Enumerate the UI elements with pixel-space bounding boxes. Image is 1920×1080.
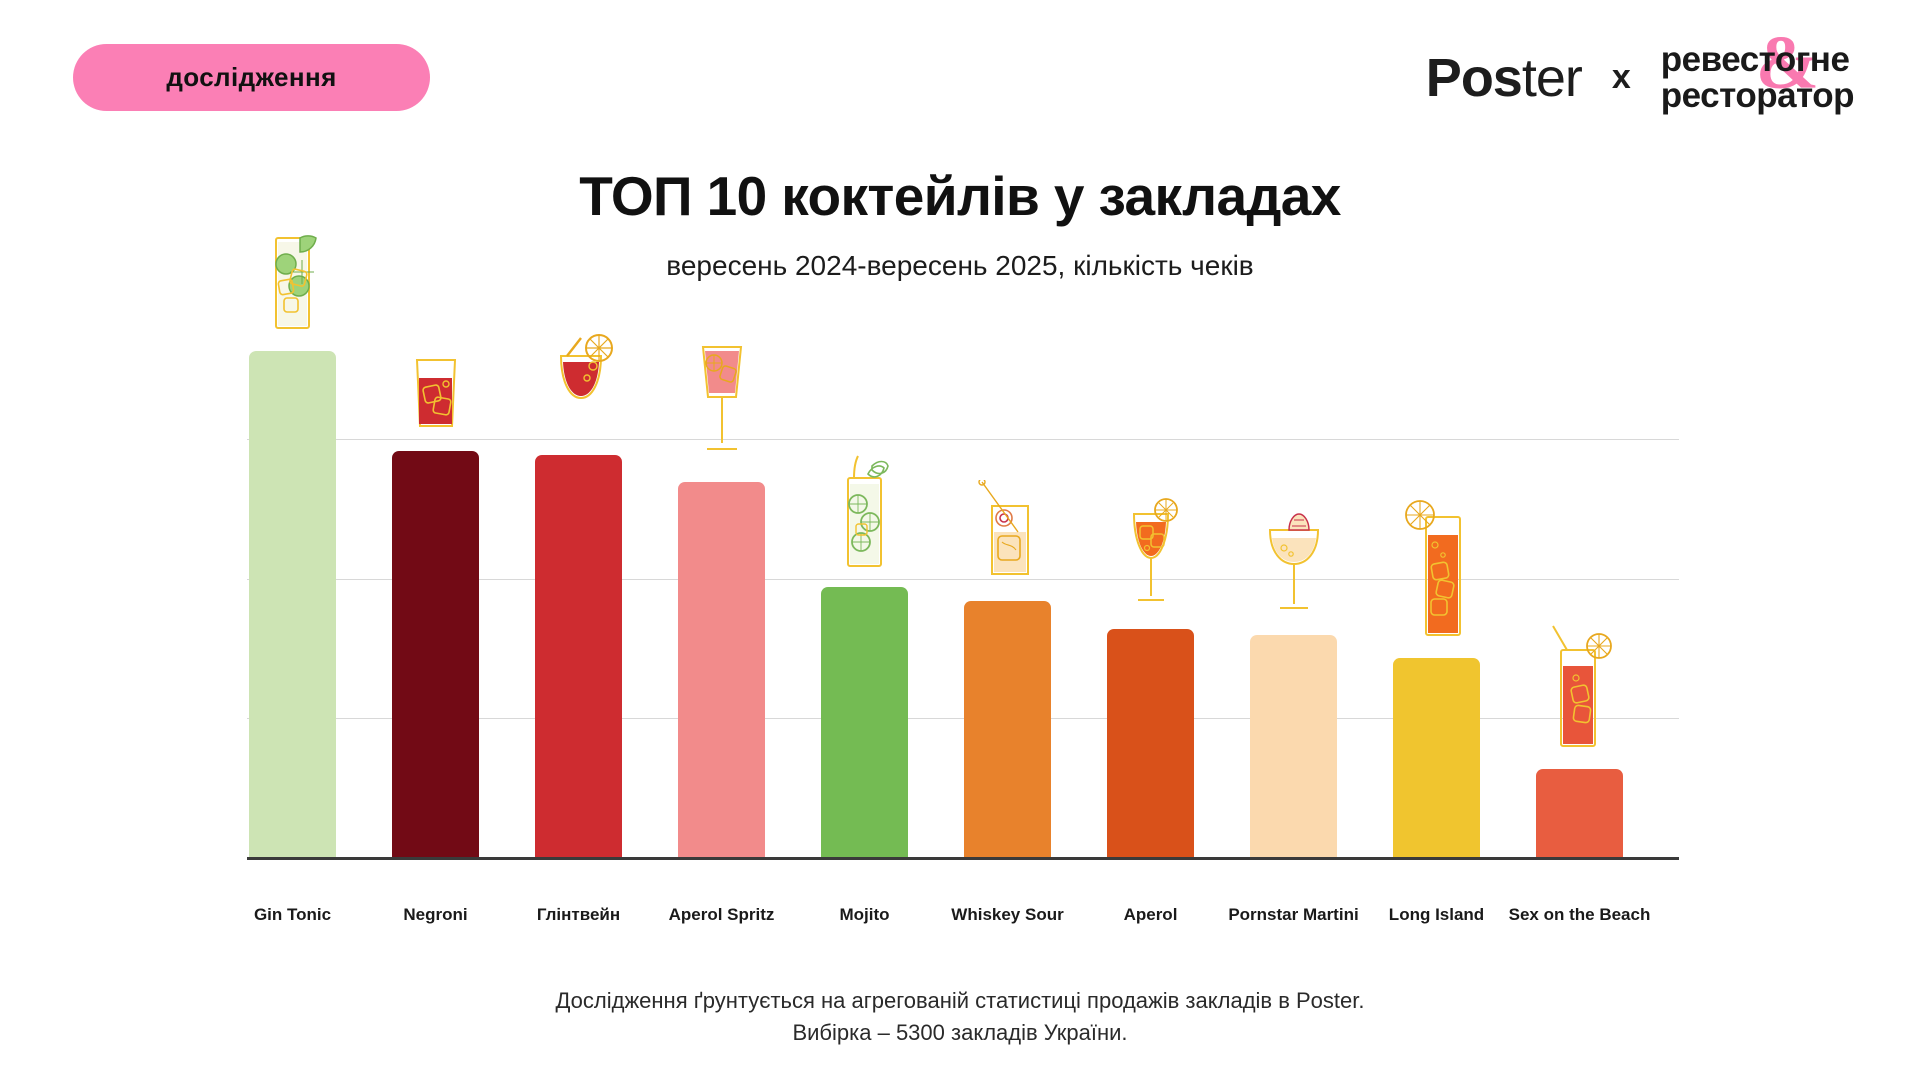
highball-lime-ice-glass-icon [262,220,324,337]
bar-group [1393,658,1480,857]
poster-logo: Poster [1426,51,1582,105]
whiskey-sour-rocks-glass-icon [976,480,1040,587]
bar[interactable] [535,455,622,857]
aperol-wine-glass-icon [1120,498,1182,615]
bar[interactable] [1250,635,1337,857]
collab-x-separator: x [1608,58,1635,97]
partner-logo-line2: ресторатор [1661,78,1854,114]
long-island-highball-icon [1404,499,1470,644]
partner-logo: & ревестогне ресторатор [1661,42,1854,113]
bar[interactable] [249,351,336,857]
x-axis-label: Pornstar Martini [1228,905,1358,925]
chart-baseline-axis [247,857,1679,860]
bar-group [249,351,336,857]
x-axis-label: Whiskey Sour [951,905,1063,925]
bar[interactable] [964,601,1051,857]
bar[interactable] [678,482,765,857]
x-axis-label: Mojito [839,905,889,925]
bar-group [964,601,1051,857]
poster-logo-bold: Pos [1426,48,1522,108]
bar-group [821,587,908,857]
page-title: ТОП 10 коктейлів у закладах [0,164,1920,228]
category-badge-label: дослідження [166,62,336,93]
bar[interactable] [1536,769,1623,857]
sex-on-the-beach-highball-icon [1547,622,1613,755]
rocks-negroni-glass-icon [408,354,464,437]
mulled-wine-goblet-icon [541,332,617,441]
mojito-highball-mint-icon [834,452,896,573]
bar-group [392,451,479,857]
bar-chart [247,300,1679,860]
bar[interactable] [392,451,479,857]
x-axis-label: Long Island [1389,905,1484,925]
chart-bars [247,300,1679,857]
x-axis-label: Negroni [403,905,467,925]
x-axis-label: Gin Tonic [254,905,331,925]
bar[interactable] [1393,658,1480,857]
chart-x-axis-labels: Gin TonicNegroniГлінтвейнAperol SpritzMo… [247,905,1679,935]
x-axis-label: Глінтвейн [537,905,620,925]
bar-group [1250,635,1337,857]
bar-group [1107,629,1194,857]
bar[interactable] [1107,629,1194,857]
bar[interactable] [821,587,908,857]
x-axis-label: Aperol [1124,905,1178,925]
poster-logo-light: ter [1522,48,1582,108]
partner-logo-line1: ревестогне [1661,42,1854,78]
bar-group [678,482,765,857]
source-note-line1: Дослідження ґрунтується на агрегованій с… [0,985,1920,1017]
x-axis-label: Sex on the Beach [1509,905,1651,925]
pornstar-martini-coupe-icon [1258,504,1330,621]
infographic-page: дослідження Poster x & ревестогне рестор… [0,0,1920,1080]
x-axis-label: Aperol Spritz [669,905,775,925]
aperol-spritz-wine-glass-icon [689,341,755,468]
source-note: Дослідження ґрунтується на агрегованій с… [0,985,1920,1049]
bar-group [1536,769,1623,857]
bar-group [535,455,622,857]
source-note-line2: Вибірка – 5300 закладів України. [0,1017,1920,1049]
branding-logos: Poster x & ревестогне ресторатор [1426,42,1854,113]
category-badge: дослідження [73,44,430,111]
